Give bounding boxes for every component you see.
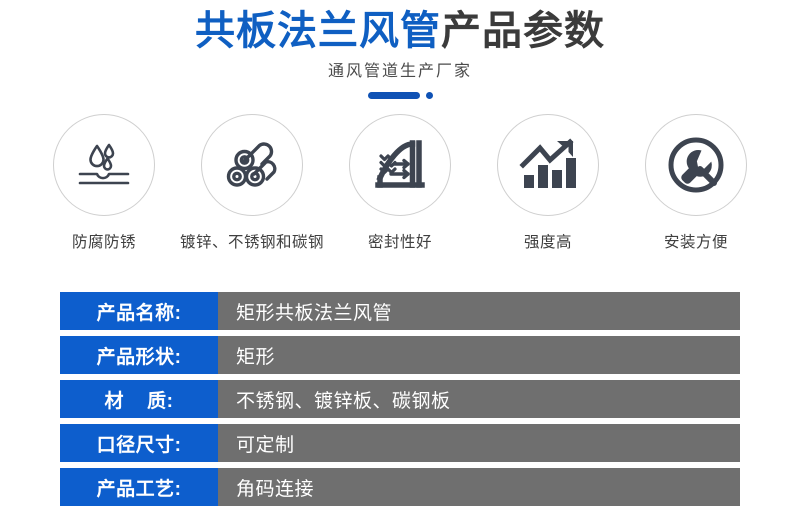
page-title-highlight: 共板法兰风管	[195, 9, 441, 53]
water-drops-surface-icon	[73, 134, 135, 196]
table-row: 产品工艺: 角码连接	[60, 468, 740, 506]
spec-key: 口径尺寸:	[60, 424, 218, 462]
spec-value: 不锈钢、镀锌板、碳钢板	[218, 380, 740, 418]
feature-item-installation: 安装方便	[622, 114, 770, 252]
title-divider	[0, 90, 800, 100]
spec-value: 角码连接	[218, 468, 740, 506]
feature-label: 强度高	[524, 230, 572, 252]
divider-bar	[368, 92, 420, 99]
spec-value: 可定制	[218, 424, 740, 462]
page-subtitle: 通风管道生产厂家	[0, 62, 800, 82]
feature-icon-circle	[53, 114, 155, 216]
divider-dot-icon	[426, 92, 433, 99]
spec-key: 产品形状:	[60, 336, 218, 374]
feature-label: 密封性好	[368, 230, 432, 252]
spec-key: 材 质:	[60, 380, 218, 418]
spec-key: 产品工艺:	[60, 468, 218, 506]
feature-item-strength: 强度高	[474, 114, 622, 252]
feature-icon-circle	[645, 114, 747, 216]
spec-key: 产品名称:	[60, 292, 218, 330]
spec-value: 矩形共板法兰风管	[218, 292, 740, 330]
page-title-rest: 产品参数	[441, 9, 605, 53]
wrench-circle-icon	[665, 134, 727, 196]
table-row: 口径尺寸: 可定制	[60, 424, 740, 462]
feature-icon-circle	[349, 114, 451, 216]
feature-icon-circle	[201, 114, 303, 216]
table-row: 材 质: 不锈钢、镀锌板、碳钢板	[60, 380, 740, 418]
table-row: 产品形状: 矩形	[60, 336, 740, 374]
feature-label: 防腐防锈	[72, 230, 136, 252]
feature-item-materials: 镀锌、不锈钢和碳钢	[178, 114, 326, 252]
feature-label: 安装方便	[664, 230, 728, 252]
page-title: 共板法兰风管产品参数	[0, 6, 800, 56]
feature-item-sealing: 密封性好	[326, 114, 474, 252]
page-header: 共板法兰风管产品参数 通风管道生产厂家	[0, 0, 800, 100]
spec-value: 矩形	[218, 336, 740, 374]
feature-list: 防腐防锈 镀锌、不锈钢和碳钢	[0, 114, 800, 252]
feature-item-anti-corrosion: 防腐防锈	[30, 114, 178, 252]
bar-chart-growth-icon	[517, 134, 579, 196]
stacked-pipes-icon	[221, 134, 283, 196]
airflow-seal-icon	[370, 135, 430, 195]
feature-label: 镀锌、不锈钢和碳钢	[180, 230, 324, 252]
feature-icon-circle	[497, 114, 599, 216]
table-row: 产品名称: 矩形共板法兰风管	[60, 292, 740, 330]
spec-table: 产品名称: 矩形共板法兰风管 产品形状: 矩形 材 质: 不锈钢、镀锌板、碳钢板…	[60, 292, 740, 506]
